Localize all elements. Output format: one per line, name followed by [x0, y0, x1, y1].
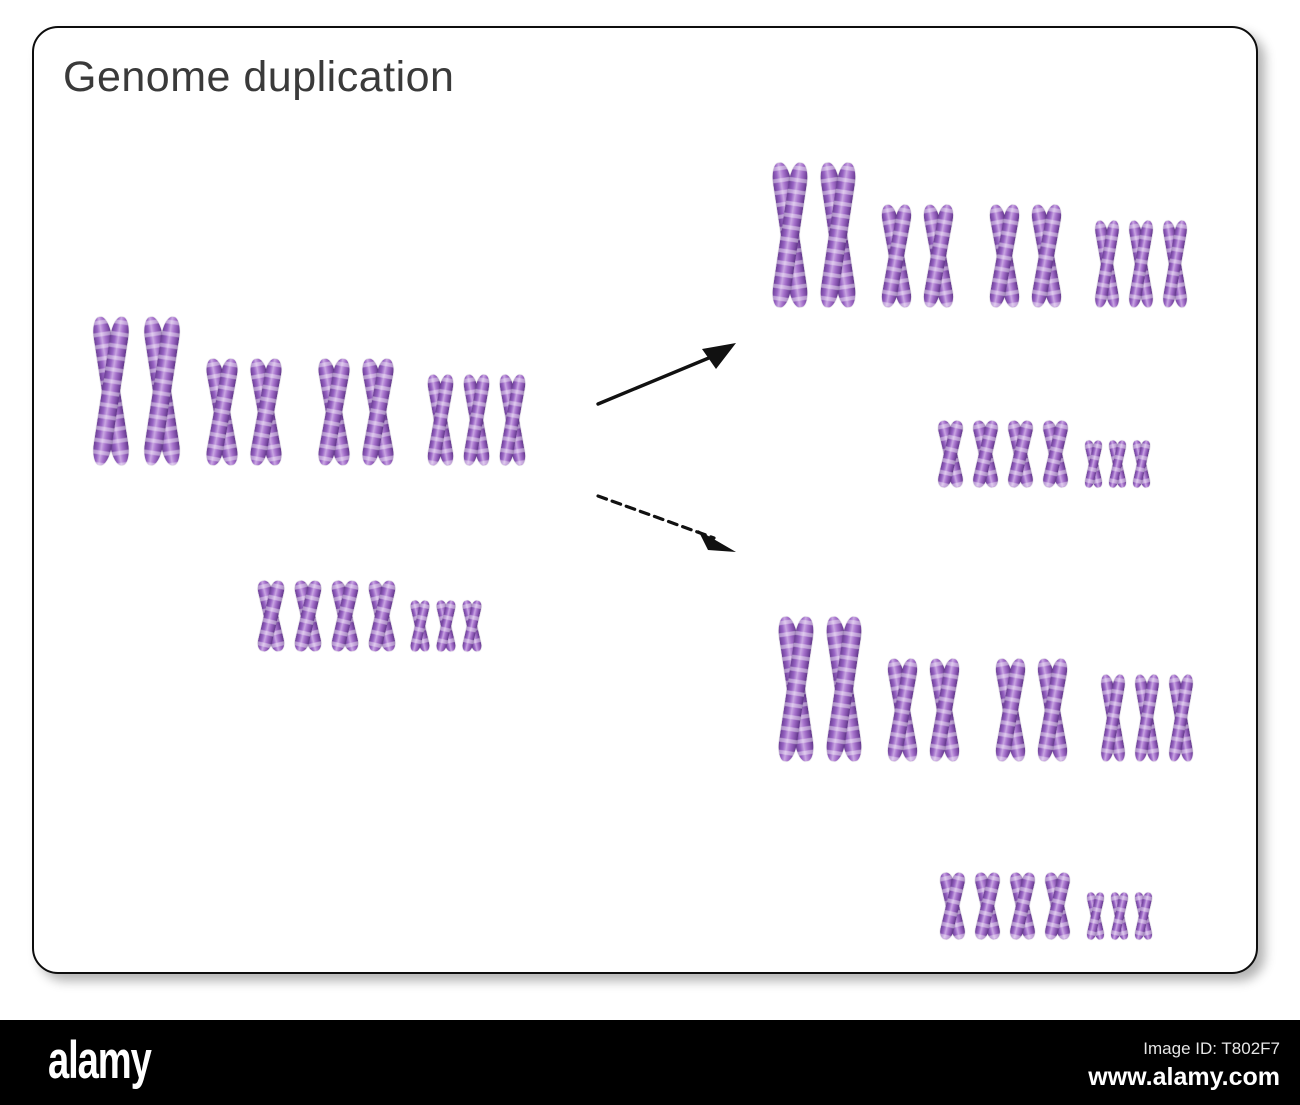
chromosome-small: [424, 374, 457, 466]
chromosome-medium: [936, 872, 968, 940]
chromosome-small: [1098, 674, 1129, 762]
chromosome-medium: [1034, 658, 1072, 762]
diagram-stage: Genome duplication: [0, 0, 1300, 1020]
chromosome-medium: [314, 358, 354, 466]
chromosome-medium: [971, 872, 1003, 940]
arrow-down-right-icon: [590, 486, 750, 561]
chromosome-group-medium: [884, 638, 968, 762]
daughter-karyotype-top: [762, 138, 1212, 458]
karyotype-row: [768, 592, 1218, 762]
chromosome-large: [768, 162, 812, 308]
chromosome-small: [1160, 220, 1191, 308]
chromosome-medium: [1004, 420, 1036, 488]
chromosome-large: [774, 616, 818, 762]
chromosome-medium: [291, 580, 325, 652]
karyotype-row: [78, 296, 548, 466]
chromosome-medium: [328, 580, 362, 652]
image-id-label: Image ID: T802F7: [1040, 1039, 1280, 1059]
chromosome-group-medium: [1006, 852, 1076, 940]
chromosome-small: [434, 600, 458, 652]
chromosome-group-small: [1098, 654, 1200, 762]
chromosome-small: [1108, 892, 1130, 940]
chromosome-group-medium: [254, 560, 328, 652]
chromosome-group-large: [88, 296, 190, 466]
chromosome-medium: [246, 358, 286, 466]
chromosome-small: [460, 600, 484, 652]
parent-karyotype: [78, 296, 548, 616]
chromosome-group-small: [1084, 872, 1156, 940]
chromosome-medium: [926, 658, 964, 762]
chromosome-small: [1126, 220, 1157, 308]
chromosome-group-small: [424, 354, 532, 466]
chromosome-large: [816, 162, 860, 308]
chromosome-group-small: [1082, 420, 1154, 488]
chromosome-medium: [1006, 872, 1038, 940]
chromosome-group-medium: [986, 184, 1070, 308]
chromosome-small: [1106, 440, 1128, 488]
chromosome-group-medium: [202, 338, 290, 466]
chromosome-medium: [202, 358, 242, 466]
chromosome-small: [1084, 892, 1106, 940]
chromosome-medium: [884, 658, 922, 762]
chromosome-small: [1082, 440, 1104, 488]
page-title: Genome duplication: [63, 54, 454, 101]
karyotype-row: [762, 318, 1212, 488]
chromosome-medium: [878, 204, 916, 308]
chromosome-medium: [969, 420, 1001, 488]
chromosome-small: [408, 600, 432, 652]
chromosome-medium: [1041, 872, 1073, 940]
chromosome-medium: [986, 204, 1024, 308]
chromosome-medium: [254, 580, 288, 652]
karyotype-row: [768, 770, 1218, 940]
alamy-url: www.alamy.com: [1040, 1063, 1280, 1092]
chromosome-group-medium: [878, 184, 962, 308]
chromosome-medium: [992, 658, 1030, 762]
chromosome-large: [88, 316, 134, 466]
chromosome-small: [1132, 674, 1163, 762]
chromosome-group-large: [768, 142, 864, 308]
chromosome-group-medium: [328, 560, 402, 652]
chromosome-large: [822, 616, 866, 762]
chromosome-medium: [934, 420, 966, 488]
chromosome-large: [139, 316, 185, 466]
chromosome-medium: [1028, 204, 1066, 308]
chromosome-medium: [920, 204, 958, 308]
karyotype-row: [78, 482, 548, 652]
chromosome-group-small: [1092, 200, 1194, 308]
chromosome-group-medium: [934, 400, 1004, 488]
chromosome-group-small: [408, 580, 486, 652]
chromosome-small: [1132, 892, 1154, 940]
chromosome-small: [1092, 220, 1123, 308]
chromosome-medium: [1039, 420, 1071, 488]
daughter-karyotype-bottom: [768, 592, 1218, 912]
chromosome-group-medium: [992, 638, 1076, 762]
chromosome-small: [1166, 674, 1197, 762]
chromosome-small: [460, 374, 493, 466]
chromosome-group-medium: [314, 338, 402, 466]
alamy-logo: alamy: [48, 1034, 151, 1087]
chromosome-small: [1130, 440, 1152, 488]
chromosome-group-large: [774, 596, 870, 762]
karyotype-row: [762, 138, 1212, 308]
arrow-up-right-icon: [590, 335, 750, 420]
chromosome-group-medium: [936, 852, 1006, 940]
chromosome-small: [496, 374, 529, 466]
chromosome-group-medium: [1004, 400, 1074, 488]
chromosome-medium: [365, 580, 399, 652]
chromosome-medium: [358, 358, 398, 466]
